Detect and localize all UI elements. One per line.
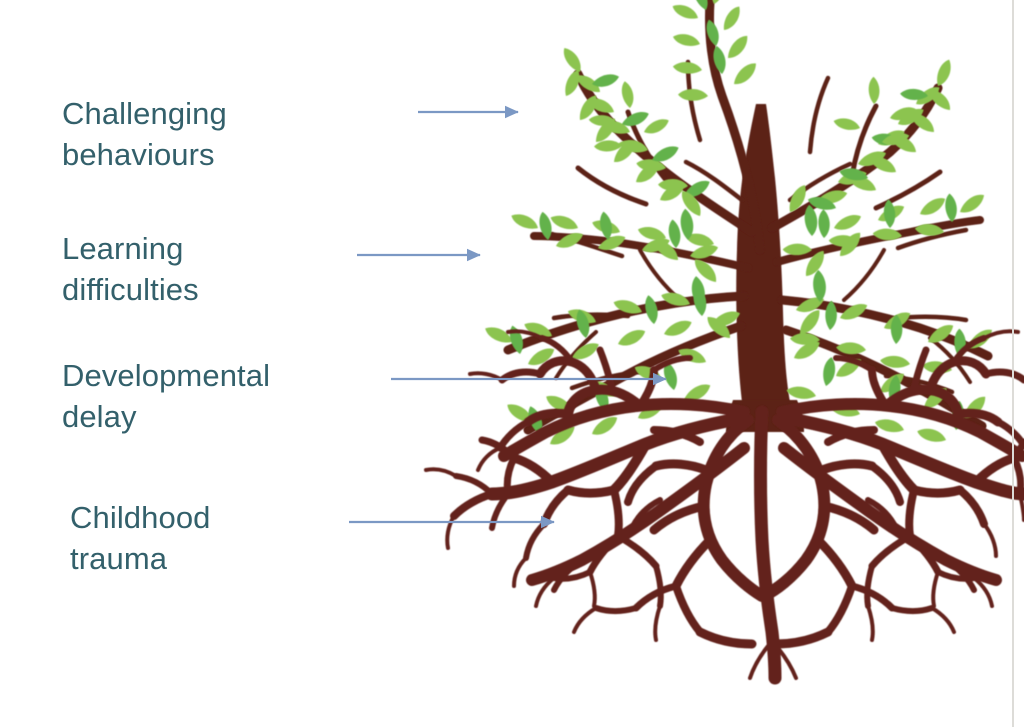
- right-edge-rule: [1012, 0, 1014, 727]
- label-learning-difficulties: Learning difficulties: [62, 228, 199, 310]
- label-developmental-delay: Developmental delay: [62, 355, 270, 437]
- label-challenging-behaviours: Challenging behaviours: [62, 93, 227, 175]
- label-childhood-trauma: Childhood trauma: [70, 497, 211, 579]
- slide-canvas: Challenging behaviours Learning difficul…: [0, 0, 1024, 727]
